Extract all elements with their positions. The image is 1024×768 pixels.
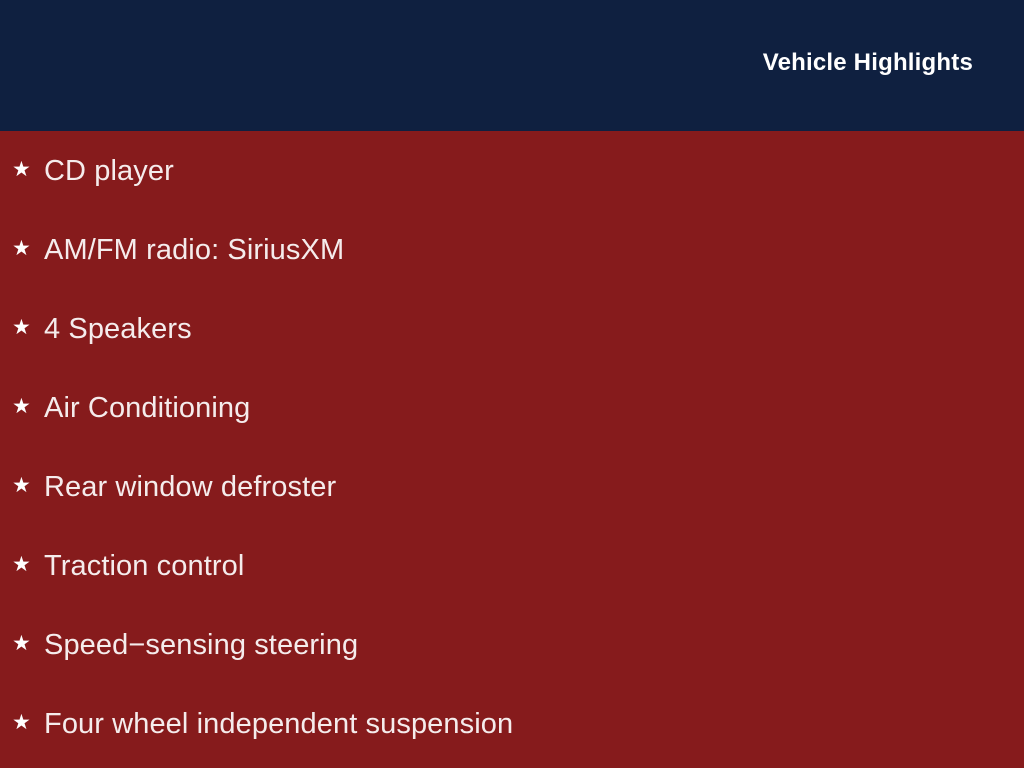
slide-header-band: Vehicle Highlights xyxy=(0,0,1024,131)
page-title: Vehicle Highlights xyxy=(763,47,973,79)
star-icon: ★ xyxy=(12,554,44,575)
star-icon: ★ xyxy=(12,633,44,654)
star-icon: ★ xyxy=(12,712,44,733)
list-item-label: Traction control xyxy=(44,548,244,584)
list-item: ★ Four wheel independent suspension xyxy=(0,684,1024,763)
list-item: ★ Rear window defroster xyxy=(0,447,1024,526)
list-item: ★ AM/FM radio: SiriusXM xyxy=(0,210,1024,289)
star-icon: ★ xyxy=(12,475,44,496)
list-item-label: Air Conditioning xyxy=(44,390,250,426)
star-icon: ★ xyxy=(12,238,44,259)
list-item: ★ Traction control xyxy=(0,526,1024,605)
list-item: ★ CD player xyxy=(0,131,1024,210)
list-item: ★ Air Conditioning xyxy=(0,368,1024,447)
star-icon: ★ xyxy=(12,396,44,417)
star-icon: ★ xyxy=(12,317,44,338)
list-item: ★ 4 Speakers xyxy=(0,289,1024,368)
vehicle-highlights-slide: Vehicle Highlights ★ CD player ★ AM/FM r… xyxy=(0,0,1024,768)
list-item-label: AM/FM radio: SiriusXM xyxy=(44,232,344,268)
list-item-label: Speed−sensing steering xyxy=(44,627,358,663)
list-item-label: Four wheel independent suspension xyxy=(44,706,513,742)
vehicle-highlights-list: ★ CD player ★ AM/FM radio: SiriusXM ★ 4 … xyxy=(0,131,1024,763)
slide-body: ★ CD player ★ AM/FM radio: SiriusXM ★ 4 … xyxy=(0,131,1024,768)
list-item: ★ Speed−sensing steering xyxy=(0,605,1024,684)
list-item-label: 4 Speakers xyxy=(44,311,192,347)
star-icon: ★ xyxy=(12,159,44,180)
list-item-label: CD player xyxy=(44,153,174,189)
list-item-label: Rear window defroster xyxy=(44,469,336,505)
